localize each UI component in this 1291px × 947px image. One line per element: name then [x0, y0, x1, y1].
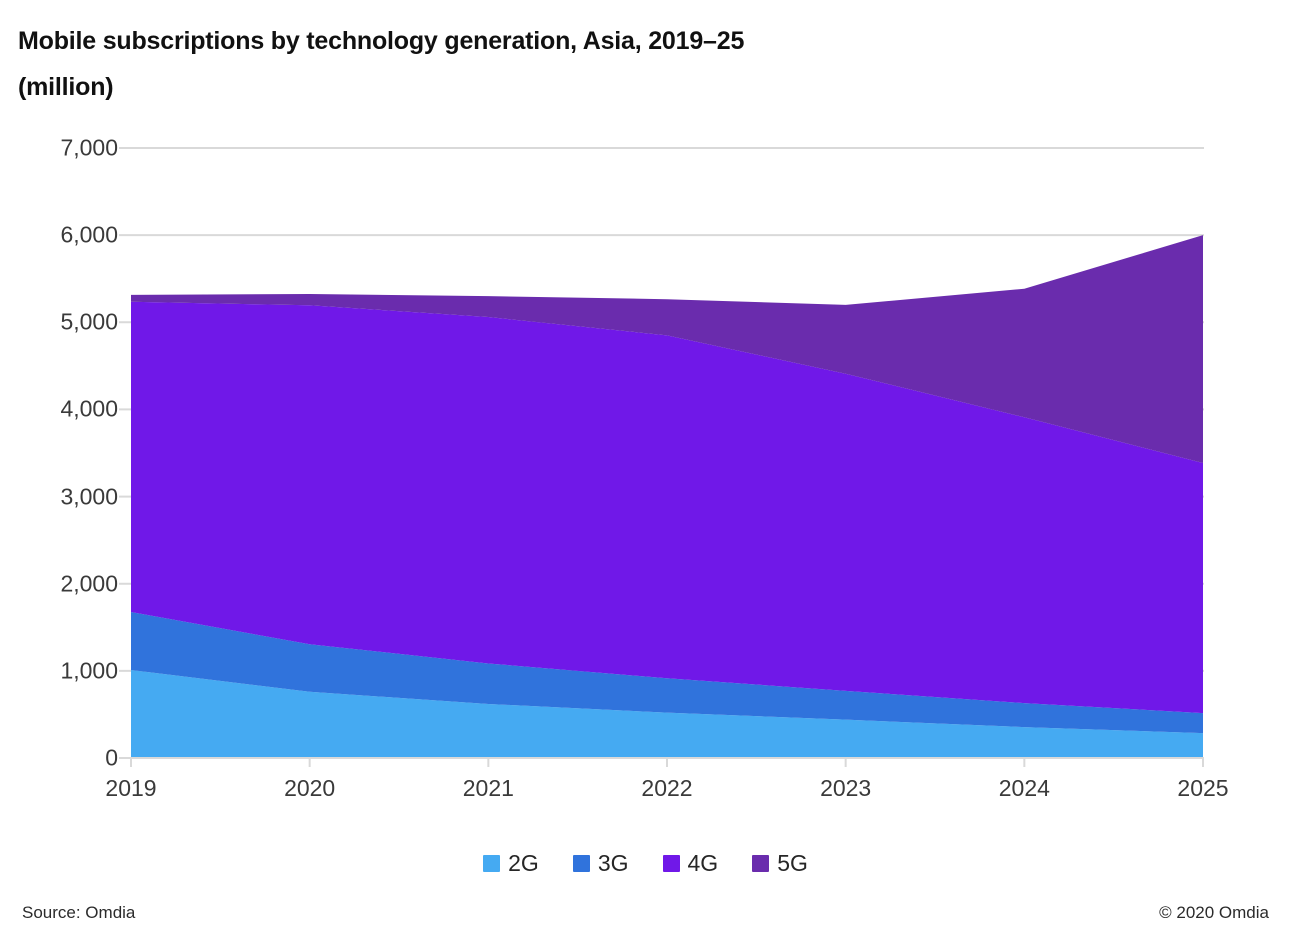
legend-swatch-icon [663, 855, 680, 872]
source-label: Source: Omdia [22, 903, 135, 923]
legend-swatch-icon [752, 855, 769, 872]
x-axis-tick-label: 2025 [1123, 775, 1283, 802]
y-axis-tick-label: 1,000 [8, 657, 118, 684]
x-axis-tick-label: 2022 [587, 775, 747, 802]
x-axis-tick-label: 2020 [230, 775, 390, 802]
chart-legend: 2G3G4G5G [0, 852, 1291, 875]
legend-label: 5G [777, 852, 808, 875]
legend-item-4g[interactable]: 4G [663, 852, 719, 875]
legend-swatch-icon [483, 855, 500, 872]
legend-swatch-icon [573, 855, 590, 872]
copyright-label: © 2020 Omdia [1159, 903, 1269, 923]
legend-label: 2G [508, 852, 539, 875]
y-axis-tick-label: 3,000 [8, 483, 118, 510]
stacked-area-chart [0, 0, 1291, 947]
y-axis-tick-label: 4,000 [8, 396, 118, 423]
y-axis-tick-label: 7,000 [8, 135, 118, 162]
y-axis-tick-label: 6,000 [8, 222, 118, 249]
legend-label: 4G [688, 852, 719, 875]
y-axis-tick-label: 0 [8, 745, 118, 772]
x-axis-tick-label: 2019 [51, 775, 211, 802]
legend-item-2g[interactable]: 2G [483, 852, 539, 875]
legend-label: 3G [598, 852, 629, 875]
y-axis: 01,0002,0003,0004,0005,0006,0007,000 [0, 0, 118, 947]
legend-item-5g[interactable]: 5G [752, 852, 808, 875]
plot-area [0, 0, 1291, 947]
y-axis-tick-label: 5,000 [8, 309, 118, 336]
legend-item-3g[interactable]: 3G [573, 852, 629, 875]
chart-footer: Source: Omdia © 2020 Omdia [22, 903, 1269, 923]
x-axis-tick-label: 2024 [944, 775, 1104, 802]
y-axis-tick-label: 2,000 [8, 570, 118, 597]
x-axis-tick-label: 2023 [766, 775, 926, 802]
chart-container: Mobile subscriptions by technology gener… [0, 0, 1291, 947]
x-axis-tick-label: 2021 [408, 775, 568, 802]
